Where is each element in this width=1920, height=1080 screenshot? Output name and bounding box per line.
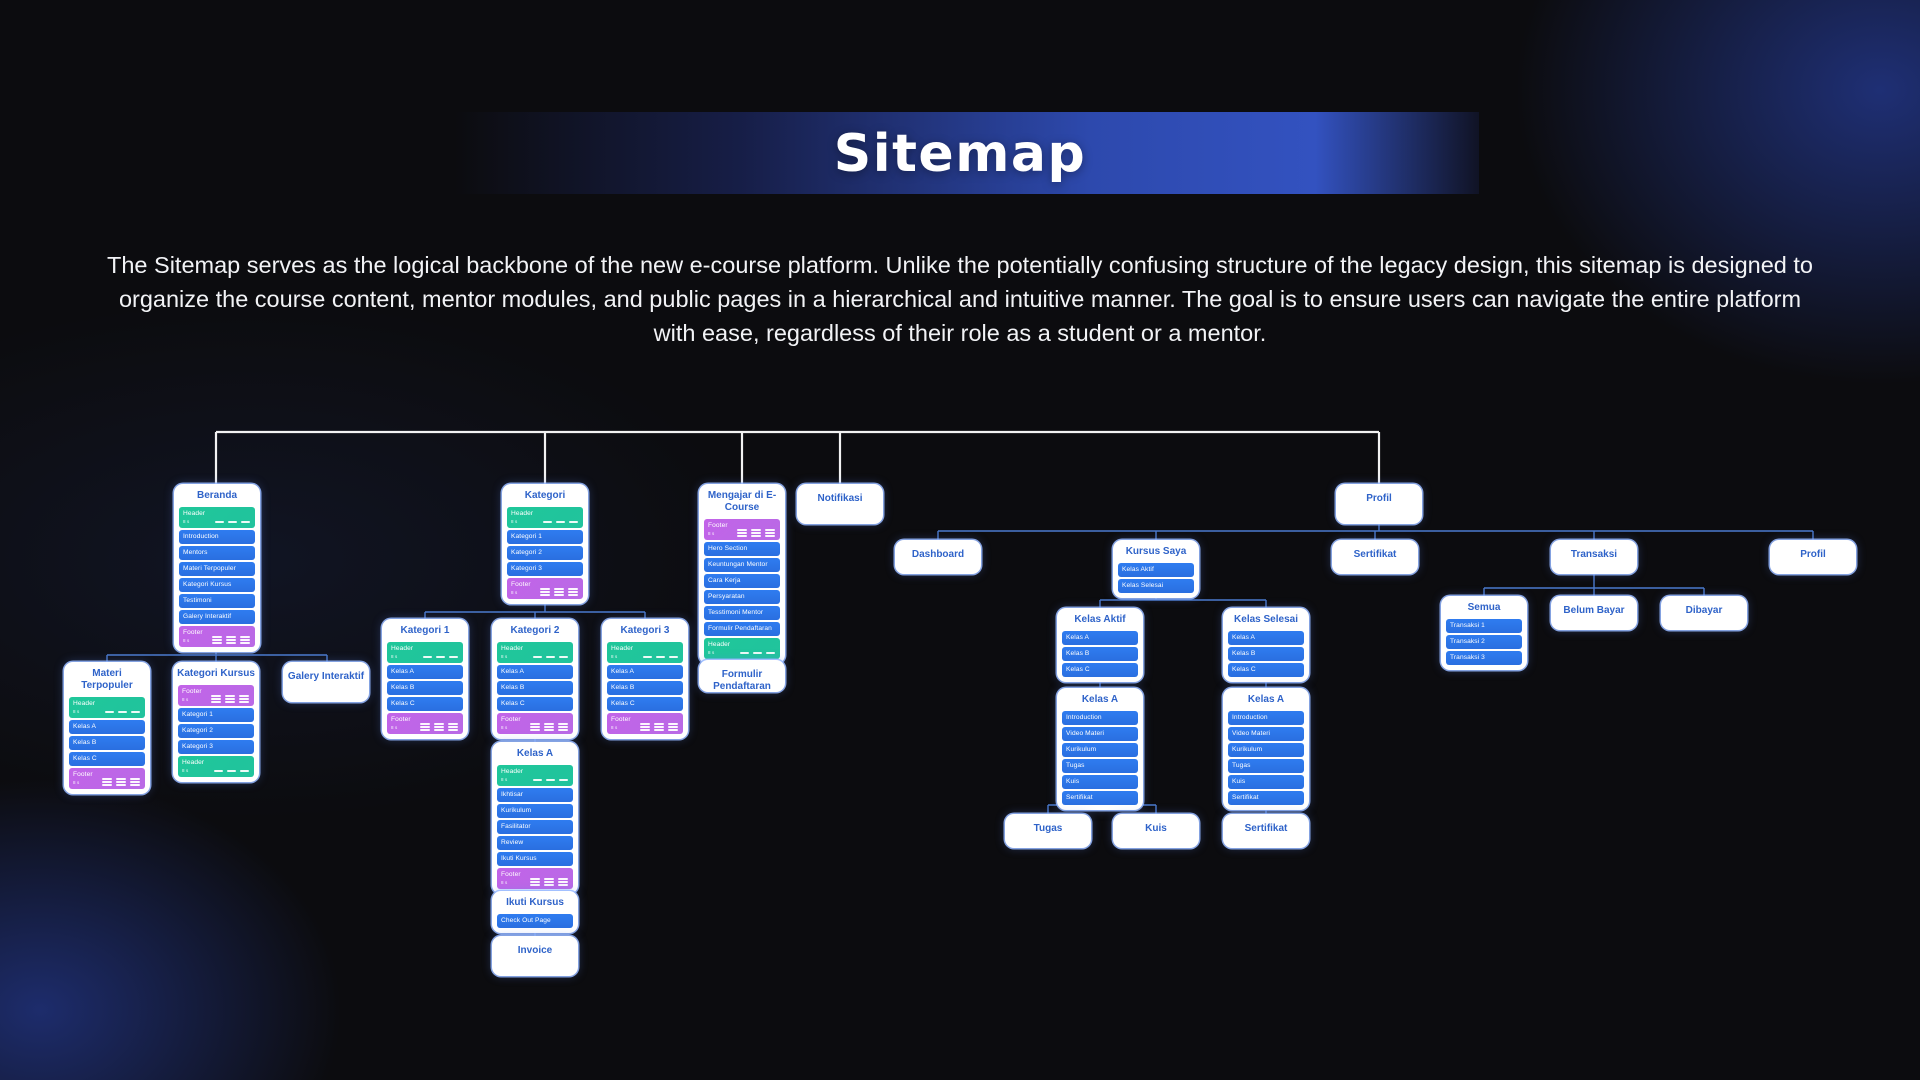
row-kurikulum[interactable]: Kurikulum <box>1228 743 1304 757</box>
node-kategori-1[interactable]: Kategori 1 Header8 s Kelas A Kelas B Kel… <box>382 619 468 739</box>
node-sertifikat-leaf[interactable]: Sertifikat <box>1223 814 1309 848</box>
node-title: Dibayar <box>1661 596 1747 622</box>
node-rows: Kelas A Kelas B Kelas C <box>1057 631 1143 682</box>
row-kategori-kursus[interactable]: Kategori Kursus <box>179 578 255 592</box>
node-rows: Check Out Page <box>492 914 578 933</box>
dash-icons <box>105 711 140 713</box>
node-galery-interaktif[interactable]: Galery Interaktif <box>283 662 369 702</box>
node-title: Mengajar di E-Course <box>699 484 785 519</box>
row-kelas-a[interactable]: Kelas A <box>497 665 573 679</box>
row-footer[interactable]: Footer8 s <box>69 768 145 789</box>
row-header[interactable]: Header8 s <box>704 638 780 659</box>
row-header[interactable]: Header8 s <box>507 507 583 528</box>
dash-icons <box>740 652 775 654</box>
row-hero-section[interactable]: Hero Section <box>704 542 780 556</box>
node-mengajar-di-e-course[interactable]: Mengajar di E-Course Footer8 s Hero Sect… <box>699 484 785 664</box>
node-dashboard[interactable]: Dashboard <box>895 540 981 574</box>
node-kategori-3[interactable]: Kategori 3 Header8 s Kelas A Kelas B Kel… <box>602 619 688 739</box>
node-semua[interactable]: Semua Transaksi 1 Transaksi 2 Transaksi … <box>1441 596 1527 670</box>
node-kategori-2[interactable]: Kategori 2 Header8 s Kelas A Kelas B Kel… <box>492 619 578 739</box>
row-kelas-a[interactable]: Kelas A <box>387 665 463 679</box>
node-title: Materi Terpopuler <box>64 662 150 697</box>
row-header[interactable]: Header8 s <box>387 642 463 663</box>
row-kurikulum[interactable]: Kurikulum <box>1062 743 1138 757</box>
row-transaksi-1[interactable]: Transaksi 1 <box>1446 619 1522 633</box>
node-sertifikat-top[interactable]: Sertifikat <box>1332 540 1418 574</box>
row-kategori-1[interactable]: Kategori 1 <box>507 530 583 544</box>
node-title: Kelas Selesai <box>1223 608 1309 631</box>
node-title: Formulir Pendaftaran <box>699 660 785 692</box>
node-ikuti-kursus[interactable]: Ikuti Kursus Check Out Page <box>492 891 578 933</box>
node-belum-bayar[interactable]: Belum Bayar <box>1551 596 1637 630</box>
node-title: Dashboard <box>895 540 981 566</box>
node-rows: Transaksi 1 Transaksi 2 Transaksi 3 <box>1441 619 1527 670</box>
node-rows: Header8 s Ikhtisar Kurikulum Fasilitator… <box>492 765 578 894</box>
node-rows: Kelas A Kelas B Kelas C <box>1223 631 1309 682</box>
row-tugas[interactable]: Tugas <box>1062 759 1138 773</box>
bars-icon <box>211 695 249 703</box>
node-profil-leaf[interactable]: Profil <box>1770 540 1856 574</box>
dash-icons <box>214 770 249 772</box>
node-title: Kelas A <box>1223 688 1309 711</box>
row-tesstimoni-mentor[interactable]: Tesstimoni Mentor <box>704 606 780 620</box>
node-title: Ikuti Kursus <box>492 891 578 914</box>
node-title: Profil <box>1336 484 1422 510</box>
row-kelas-a[interactable]: Kelas A <box>69 720 145 734</box>
node-title: Kelas A <box>1057 688 1143 711</box>
node-rows: Footer8 s Hero Section Keuntungan Mentor… <box>699 519 785 664</box>
row-kelas-c[interactable]: Kelas C <box>387 697 463 711</box>
dash-icons <box>533 779 568 781</box>
row-kategori-2[interactable]: Kategori 2 <box>507 546 583 560</box>
bars-icon <box>540 588 578 596</box>
node-kategori-kursus[interactable]: Kategori Kursus Footer8 s Kategori 1 Kat… <box>173 662 259 782</box>
row-formulir-pendaftaran[interactable]: Formulir Pendaftaran <box>704 622 780 636</box>
bars-icon <box>420 723 458 731</box>
node-title: Kategori 3 <box>602 619 688 642</box>
row-kuis[interactable]: Kuis <box>1062 775 1138 789</box>
bars-icon <box>102 778 140 786</box>
node-title: Kategori 1 <box>382 619 468 642</box>
node-beranda[interactable]: Beranda Header8 s Introduction Mentors M… <box>174 484 260 652</box>
node-title: Galery Interaktif <box>283 662 369 688</box>
row-kelas-b[interactable]: Kelas B <box>69 736 145 750</box>
row-review[interactable]: Review <box>497 836 573 850</box>
row-introduction[interactable]: Introduction <box>1228 711 1304 725</box>
row-fasilitator[interactable]: Fasilitator <box>497 820 573 834</box>
node-title: Semua <box>1441 596 1527 619</box>
node-materi-terpopuler[interactable]: Materi Terpopuler Header8 s Kelas A Kela… <box>64 662 150 794</box>
row-kelas-a[interactable]: Kelas A <box>1228 631 1304 645</box>
node-title: Kuis <box>1113 814 1199 840</box>
node-title: Tugas <box>1005 814 1091 840</box>
node-title: Kategori Kursus <box>173 662 259 685</box>
row-check-out-page[interactable]: Check Out Page <box>497 914 573 928</box>
node-kelas-a-public[interactable]: Kelas A Header8 s Ikhtisar Kurikulum Fas… <box>492 742 578 894</box>
row-cara-kerja[interactable]: Cara Kerja <box>704 574 780 588</box>
row-kelas-b[interactable]: Kelas B <box>607 681 683 695</box>
row-materi-terpopuler[interactable]: Materi Terpopuler <box>179 562 255 576</box>
row-kelas-c[interactable]: Kelas C <box>69 752 145 766</box>
row-galery-interaktif[interactable]: Galery Interaktif <box>179 610 255 624</box>
row-header[interactable]: Header8 s <box>497 642 573 663</box>
row-transaksi-2[interactable]: Transaksi 2 <box>1446 635 1522 649</box>
row-kelas-b[interactable]: Kelas B <box>1062 647 1138 661</box>
node-title: Transaksi <box>1551 540 1637 566</box>
row-kategori-2[interactable]: Kategori 2 <box>178 724 254 738</box>
node-formulir-pendaftaran[interactable]: Formulir Pendaftaran <box>699 660 785 692</box>
node-rows: Header8 s Kelas A Kelas B Kelas C Footer… <box>64 697 150 794</box>
bars-icon <box>640 723 678 731</box>
row-kelas-b[interactable]: Kelas B <box>1228 647 1304 661</box>
row-kategori-3[interactable]: Kategori 3 <box>178 740 254 754</box>
node-title: Kategori <box>502 484 588 507</box>
node-invoice[interactable]: Invoice <box>492 936 578 976</box>
node-kategori[interactable]: Kategori Header8 s Kategori 1 Kategori 2… <box>502 484 588 604</box>
row-footer[interactable]: Footer8 s <box>497 868 573 889</box>
node-rows: Header8 s Kelas A Kelas B Kelas C Footer… <box>492 642 578 739</box>
node-title: Kursus Saya <box>1113 540 1199 563</box>
node-transaksi[interactable]: Transaksi <box>1551 540 1637 574</box>
node-rows: Kelas Aktif Kelas Selesai <box>1113 563 1199 598</box>
row-kelas-selesai[interactable]: Kelas Selesai <box>1118 579 1194 593</box>
sitemap-diagram: Beranda Header8 s Introduction Mentors M… <box>0 0 1920 1080</box>
row-header[interactable]: Header8 s <box>69 697 145 718</box>
row-kuis[interactable]: Kuis <box>1228 775 1304 789</box>
node-rows: Introduction Video Materi Kurikulum Tuga… <box>1223 711 1309 810</box>
row-video-materi[interactable]: Video Materi <box>1062 727 1138 741</box>
row-kelas-b[interactable]: Kelas B <box>497 681 573 695</box>
node-kelas-aktif[interactable]: Kelas Aktif Kelas A Kelas B Kelas C <box>1057 608 1143 682</box>
row-kurikulum[interactable]: Kurikulum <box>497 804 573 818</box>
node-kelas-a-aktif[interactable]: Kelas A Introduction Video Materi Kuriku… <box>1057 688 1143 810</box>
node-title: Notifikasi <box>797 484 883 510</box>
node-notifikasi[interactable]: Notifikasi <box>797 484 883 524</box>
node-title: Kelas Aktif <box>1057 608 1143 631</box>
row-sertifikat[interactable]: Sertifikat <box>1062 791 1138 805</box>
row-footer[interactable]: Footer8 s <box>704 519 780 540</box>
row-tugas[interactable]: Tugas <box>1228 759 1304 773</box>
node-rows: Header8 s Kategori 1 Kategori 2 Kategori… <box>502 507 588 604</box>
row-ikhtisar[interactable]: Ikhtisar <box>497 788 573 802</box>
row-footer[interactable]: Footer8 s <box>178 685 254 706</box>
row-kelas-a[interactable]: Kelas A <box>607 665 683 679</box>
node-rows: Introduction Video Materi Kurikulum Tuga… <box>1057 711 1143 810</box>
bars-icon <box>530 878 568 886</box>
row-kategori-3[interactable]: Kategori 3 <box>507 562 583 576</box>
row-kelas-c[interactable]: Kelas C <box>1062 663 1138 677</box>
row-header[interactable]: Header8 s <box>607 642 683 663</box>
row-kelas-c[interactable]: Kelas C <box>1228 663 1304 677</box>
node-title: Profil <box>1770 540 1856 566</box>
node-tugas[interactable]: Tugas <box>1005 814 1091 848</box>
node-kursus-saya[interactable]: Kursus Saya Kelas Aktif Kelas Selesai <box>1113 540 1199 598</box>
node-title: Kategori 2 <box>492 619 578 642</box>
row-kategori-1[interactable]: Kategori 1 <box>178 708 254 722</box>
row-keuntungan-mentor[interactable]: Keuntungan Mentor <box>704 558 780 572</box>
row-footer[interactable]: Footer8 s <box>179 626 255 647</box>
row-mentors[interactable]: Mentors <box>179 546 255 560</box>
row-header[interactable]: Header8 s <box>178 756 254 777</box>
row-introduction[interactable]: Introduction <box>1062 711 1138 725</box>
row-kelas-a[interactable]: Kelas A <box>1062 631 1138 645</box>
dash-icons <box>543 521 578 523</box>
bars-icon <box>212 636 250 644</box>
row-footer[interactable]: Footer8 s <box>497 713 573 734</box>
node-rows: Header8 s Kelas A Kelas B Kelas C Footer… <box>382 642 468 739</box>
row-persyaratan[interactable]: Persyaratan <box>704 590 780 604</box>
node-rows: Header8 s Introduction Mentors Materi Te… <box>174 507 260 652</box>
node-dibayar[interactable]: Dibayar <box>1661 596 1747 630</box>
dash-icons <box>423 656 458 658</box>
node-title: Sertifikat <box>1332 540 1418 566</box>
row-testimoni[interactable]: Testimoni <box>179 594 255 608</box>
node-kelas-a-selesai[interactable]: Kelas A Introduction Video Materi Kuriku… <box>1223 688 1309 810</box>
row-kelas-c[interactable]: Kelas C <box>607 697 683 711</box>
dash-icons <box>215 521 250 523</box>
row-ikuti-kursus[interactable]: Ikuti Kursus <box>497 852 573 866</box>
row-introduction[interactable]: Introduction <box>179 530 255 544</box>
sitemap-page: Sitemap The Sitemap serves as the logica… <box>0 0 1920 1080</box>
row-footer[interactable]: Footer8 s <box>387 713 463 734</box>
row-kelas-c[interactable]: Kelas C <box>497 697 573 711</box>
dash-icons <box>643 656 678 658</box>
node-title: Beranda <box>174 484 260 507</box>
row-video-materi[interactable]: Video Materi <box>1228 727 1304 741</box>
node-title: Sertifikat <box>1223 814 1309 840</box>
bars-icon <box>530 723 568 731</box>
row-sertifikat[interactable]: Sertifikat <box>1228 791 1304 805</box>
node-kelas-selesai[interactable]: Kelas Selesai Kelas A Kelas B Kelas C <box>1223 608 1309 682</box>
node-rows: Footer8 s Kategori 1 Kategori 2 Kategori… <box>173 685 259 782</box>
node-kuis[interactable]: Kuis <box>1113 814 1199 848</box>
node-title: Kelas A <box>492 742 578 765</box>
row-transaksi-3[interactable]: Transaksi 3 <box>1446 651 1522 665</box>
node-title: Belum Bayar <box>1551 596 1637 622</box>
node-rows: Header8 s Kelas A Kelas B Kelas C Footer… <box>602 642 688 739</box>
row-header[interactable]: Header8 s <box>497 765 573 786</box>
row-kelas-aktif[interactable]: Kelas Aktif <box>1118 563 1194 577</box>
dash-icons <box>533 656 568 658</box>
bars-icon <box>737 529 775 537</box>
node-profil-root[interactable]: Profil <box>1336 484 1422 524</box>
row-kelas-b[interactable]: Kelas B <box>387 681 463 695</box>
row-footer[interactable]: Footer8 s <box>507 578 583 599</box>
row-footer[interactable]: Footer8 s <box>607 713 683 734</box>
node-title: Invoice <box>492 936 578 962</box>
row-header[interactable]: Header8 s <box>179 507 255 528</box>
